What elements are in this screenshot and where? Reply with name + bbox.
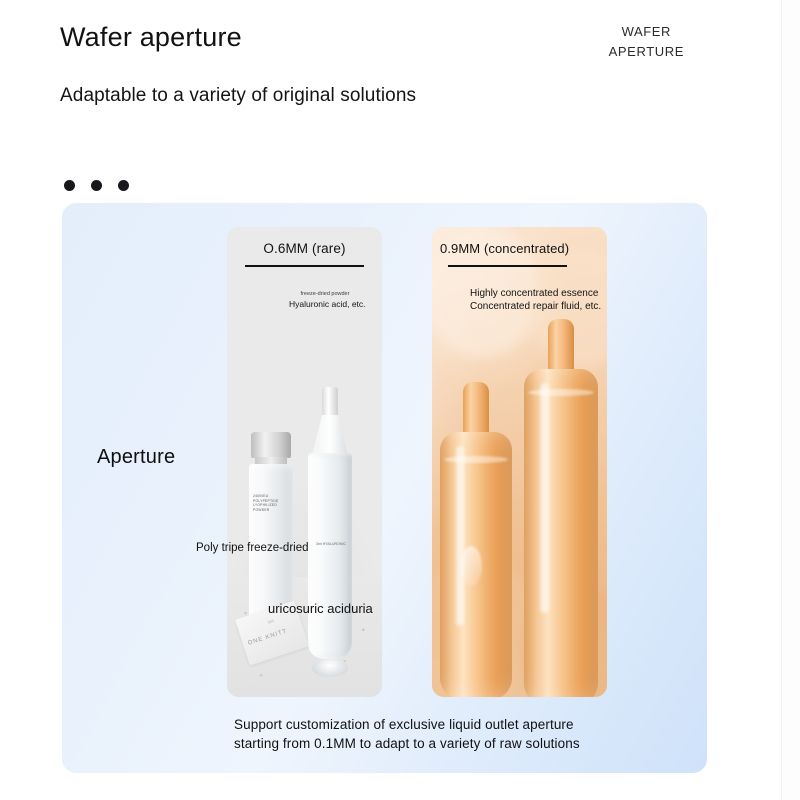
card-right-rule (448, 265, 567, 267)
ampoule-shoulder (312, 415, 348, 455)
card-left-header: O.6MM (rare) (227, 227, 382, 267)
carousel-dots[interactable] (64, 180, 129, 191)
amber-ampoule-back (524, 319, 598, 697)
amber-ampoule-front (440, 382, 512, 697)
amber-ampoule-ring (444, 456, 507, 463)
amber-ampoule-highlight (456, 446, 465, 626)
amber-ampoule-back-body (524, 369, 598, 697)
panel-footnote: Support customization of exclusive liqui… (234, 715, 594, 753)
caption-uricosuric: uricosuric aciduria (268, 601, 373, 616)
ampoule-base (312, 659, 348, 677)
hyaluronic-ampoule: 3ml HYALURONIC (302, 387, 358, 677)
card-aperture-0-6mm[interactable]: 24000EU POLYPEPTIDE LYOPHILIZED POWDER 3… (227, 227, 382, 697)
card-right-heading: 0.9MM (concentrated) (440, 241, 607, 256)
card-left-rule (245, 265, 364, 267)
carousel-dot-1[interactable] (64, 180, 75, 191)
carousel-dot-2[interactable] (91, 180, 102, 191)
carousel-dot-3[interactable] (118, 180, 129, 191)
page-title: Wafer aperture (60, 22, 242, 53)
card-left-heading: O.6MM (rare) (237, 241, 372, 256)
product-box-brand: ONE KNITT (247, 628, 288, 646)
card-left-caption-small: freeze-dried powder (275, 291, 375, 298)
card-right-caption: Highly concentrated essence Concentrated… (470, 287, 607, 313)
amber-ampoule-back-ring (528, 389, 593, 396)
brand-line-1: WAFER (609, 22, 684, 42)
card-left-caption: freeze-dried powder Hyaluronic acid, etc… (275, 291, 375, 309)
aperture-side-label: Aperture (97, 446, 175, 469)
brand-mark: WAFER APERTURE (609, 22, 684, 62)
card-aperture-0-9mm[interactable]: 0.9MM (concentrated) Highly concentrated… (432, 227, 607, 697)
card-right-caption-main: Highly concentrated essence Concentrated… (470, 287, 607, 313)
card-right-header: 0.9MM (concentrated) (432, 227, 607, 267)
ampoule-body (308, 453, 352, 659)
amber-ampoule-back-highlight (540, 383, 549, 613)
ampoule-tip-icon (322, 387, 338, 417)
page-header: Wafer aperture Adaptable to a variety of… (0, 0, 800, 150)
page-subtitle: Adaptable to a variety of original solut… (60, 85, 416, 107)
vial-label-a: 24000EU POLYPEPTIDE LYOPHILIZED POWDER (253, 494, 289, 512)
amber-ampoule-oval-glint (460, 546, 482, 586)
brand-line-2: APERTURE (609, 42, 684, 62)
vial-label-b: 3ml HYALURONIC (314, 542, 348, 547)
aperture-panel: Aperture 24000EU POLYPEPTIDE LYOPHILIZED… (62, 203, 707, 773)
product-box-small-text: 3ml (267, 618, 275, 625)
card-left-caption-main: Hyaluronic acid, etc. (275, 299, 375, 309)
caption-poly-tripe: Poly tripe freeze-dried (196, 542, 309, 554)
vial-cap-icon (251, 432, 291, 458)
